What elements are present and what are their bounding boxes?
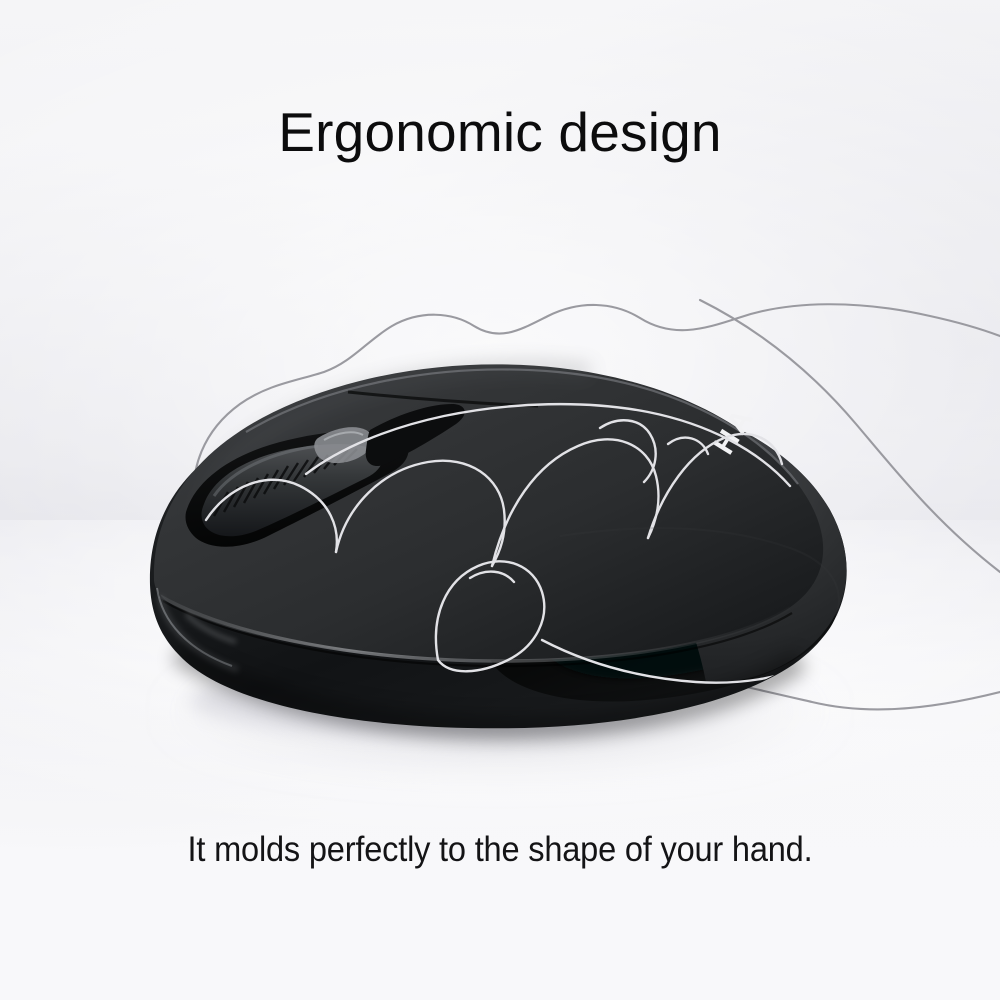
product-marketing-image: HA (0, 0, 1000, 1000)
mouse-body: HA (150, 360, 900, 728)
page-title: Ergonomic design (0, 104, 1000, 162)
page-caption: It molds perfectly to the shape of your … (35, 830, 965, 870)
